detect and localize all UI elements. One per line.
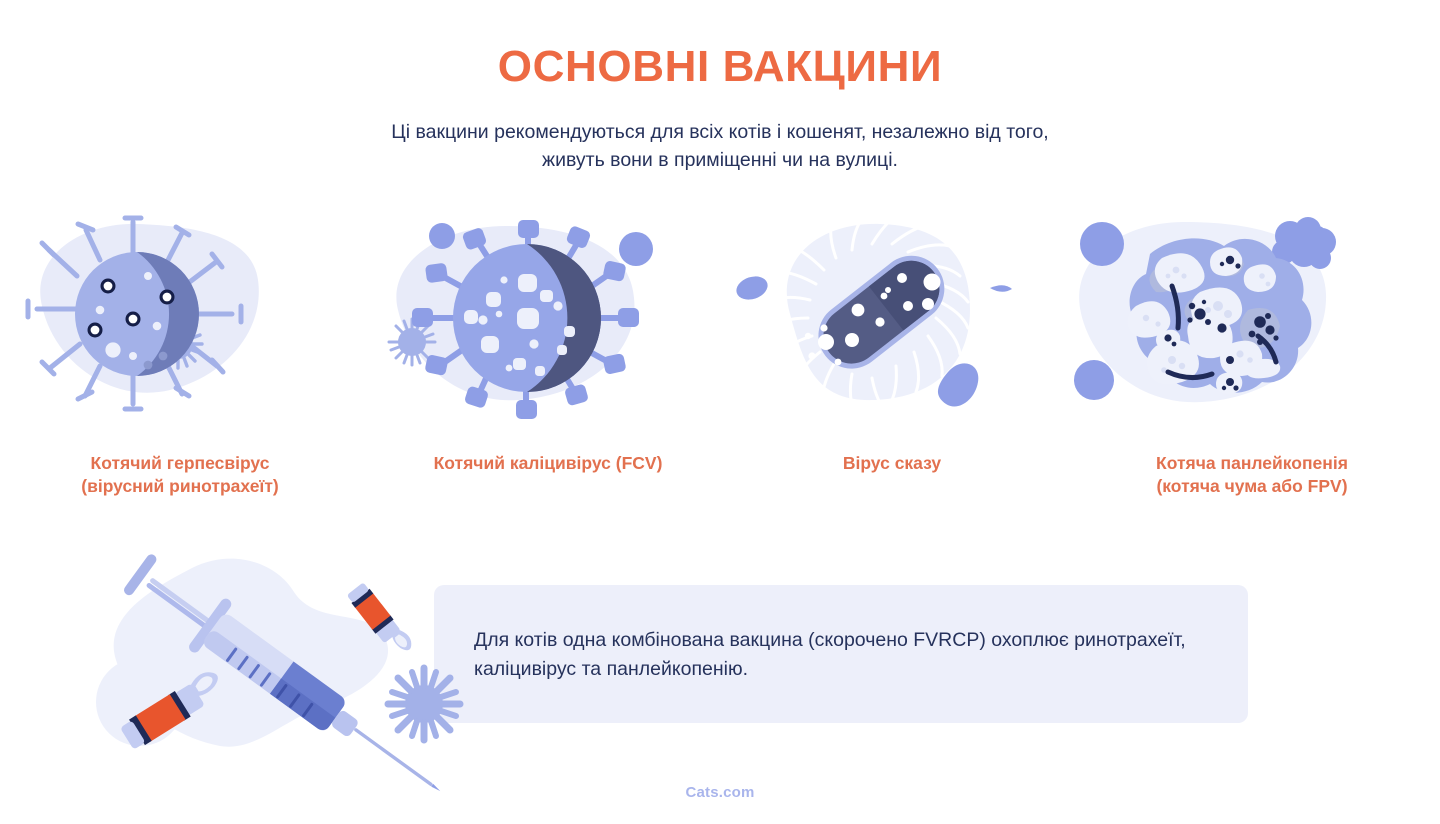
vaccine-card-caption: Котячий каліцивірус (FCV): [368, 452, 728, 475]
caption-line-1: Вірус сказу: [843, 453, 941, 473]
vaccine-card-caption: Котяча панлейкопенія (котяча чума або FP…: [1072, 452, 1432, 499]
caption-line-1: Котяча панлейкопенія: [1156, 453, 1348, 473]
virus-club-spike-sphere-icon: [368, 214, 728, 424]
vaccine-card-feline-panleukopenia: Котяча панлейкопенія (котяча чума або FP…: [1072, 214, 1432, 524]
vaccine-card-caption: Котячий герпесвірус (вірусний ринотрахеї…: [0, 452, 360, 499]
vaccine-card-feline-calicivirus: Котячий каліцивірус (FCV): [368, 214, 728, 524]
caption-line-1: Котячий каліцивірус (FCV): [434, 453, 663, 473]
cell-cluster-icon: [1072, 214, 1432, 424]
caption-line-2: (вірусний ринотрахеїт): [0, 475, 360, 498]
infographic-page: ОСНОВНІ ВАКЦИНИ Ці вакцини рекомендуютьс…: [0, 0, 1440, 824]
virus-spiky-sphere-icon: [0, 214, 360, 424]
vaccine-card-rabies-virus: Вірус сказу: [712, 214, 1072, 524]
caption-line-1: Котячий герпесвірус: [91, 453, 270, 473]
virus-sun-icon: [382, 662, 466, 746]
page-subtitle: Ці вакцини рекомендуються для всіх котів…: [360, 118, 1080, 175]
info-panel-text: Для котів одна комбінована вакцина (скор…: [474, 626, 1234, 685]
caption-line-2: (котяча чума або FPV): [1072, 475, 1432, 498]
page-title: ОСНОВНІ ВАКЦИНИ: [0, 44, 1440, 90]
vaccine-card-caption: Вірус сказу: [712, 452, 1072, 475]
vaccine-card-feline-herpesvirus: Котячий герпесвірус (вірусний ринотрахеї…: [0, 214, 360, 524]
vaccine-card-row: Котячий герпесвірус (вірусний ринотрахеї…: [0, 214, 1440, 524]
bacillus-flagella-icon: [712, 214, 1072, 424]
footer-brand: Cats.com: [0, 784, 1440, 801]
